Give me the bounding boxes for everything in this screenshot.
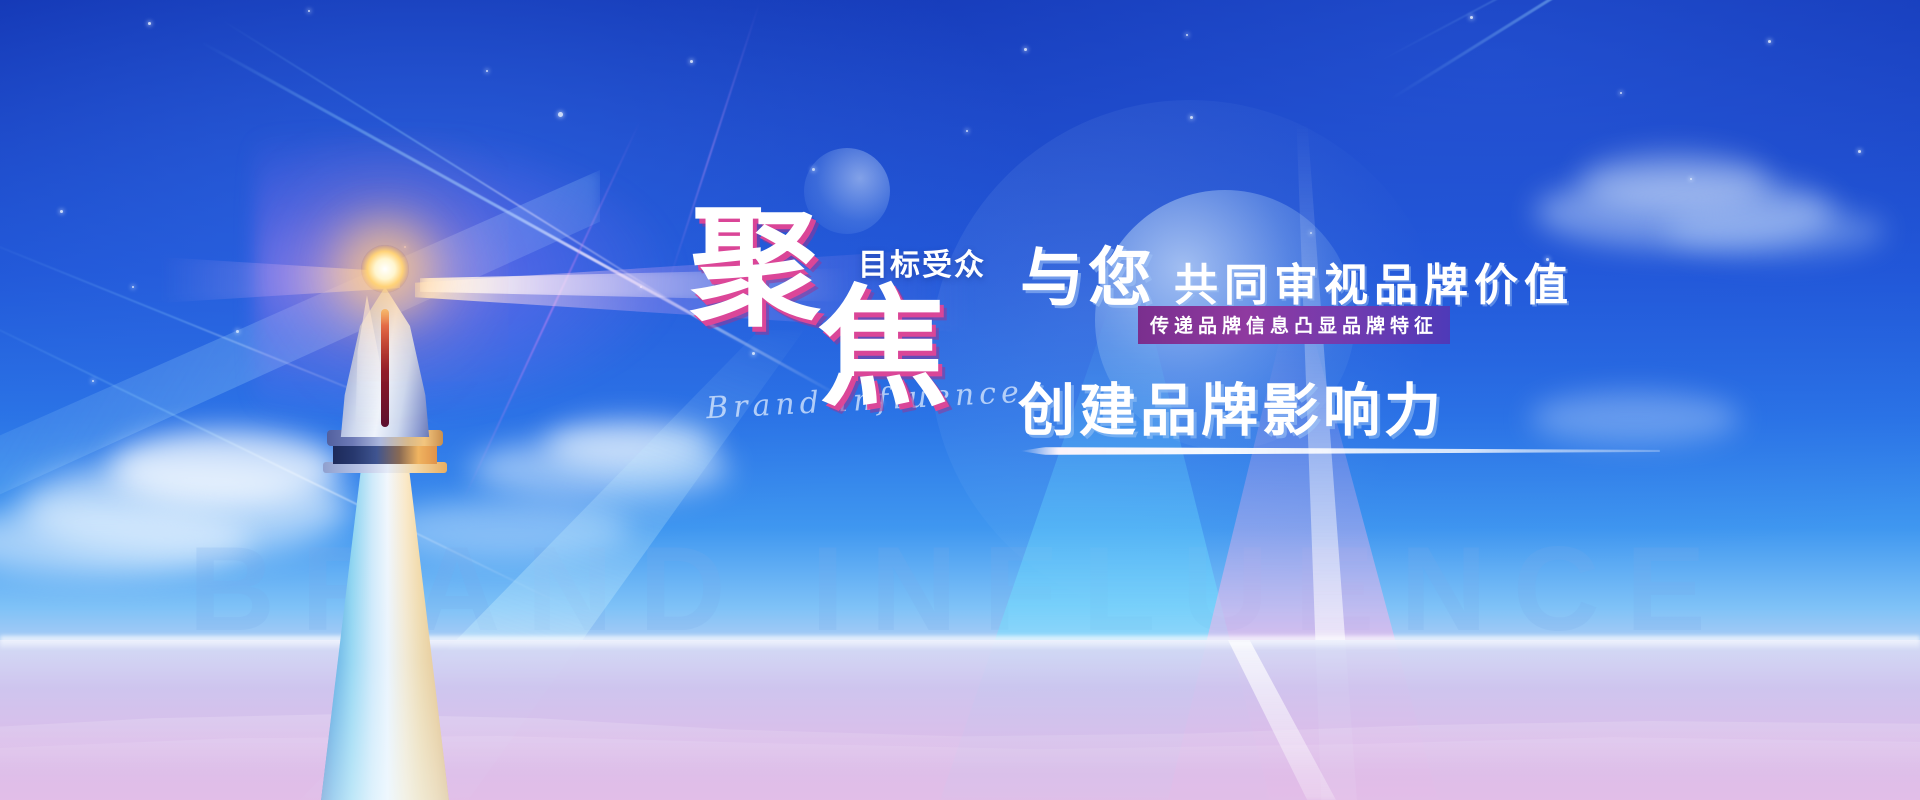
star-icon <box>308 10 310 12</box>
star-icon <box>1620 92 1622 94</box>
light-ray-icon <box>1389 0 1916 101</box>
star-icon <box>1470 16 1473 19</box>
cloud-icon <box>470 438 730 500</box>
headline-line-2: 创建品牌影响力 <box>1018 365 1445 447</box>
star-icon <box>60 210 63 213</box>
star-icon <box>558 112 563 117</box>
star-icon <box>1024 48 1027 51</box>
star-icon <box>92 380 94 382</box>
headline-lead-rest: 共同审视品牌价值 <box>1174 249 1574 313</box>
hero-character-ju: 聚 <box>690 205 820 335</box>
star-icon <box>486 70 488 72</box>
star-icon <box>132 286 134 288</box>
headline-lead: 与您 <box>1020 227 1156 319</box>
pen-nib-lighthouse-icon <box>315 225 455 800</box>
headline-divider <box>1020 447 1660 455</box>
headline-block: 聚 目标受众 Brand influence 焦 与您 共同审视品牌价值 传递品… <box>700 215 1860 545</box>
cloud-icon <box>1580 152 1770 210</box>
horizon-line <box>0 636 1920 648</box>
beacon-light-icon <box>361 245 409 293</box>
star-icon <box>690 60 693 63</box>
star-icon <box>1190 116 1193 119</box>
tagline-badge: 传递品牌信息凸显品牌特征 <box>1138 306 1450 344</box>
star-icon <box>812 168 815 171</box>
star-icon <box>966 130 968 132</box>
lighthouse-tower-highlight <box>321 471 449 800</box>
cloud-icon <box>110 430 340 506</box>
cloud-icon <box>545 420 715 468</box>
light-ray-icon <box>1380 0 1858 62</box>
promotional-banner: BRAND INFLUENCE 聚 目标受众 Brand influence 焦 <box>0 0 1920 800</box>
star-icon <box>1768 40 1771 43</box>
pen-nib-slit <box>381 309 389 427</box>
star-icon <box>1186 34 1188 36</box>
hero-character-jiao: 焦 <box>818 285 948 415</box>
star-icon <box>236 330 239 333</box>
lighthouse-collar <box>333 444 437 464</box>
star-icon <box>1858 150 1861 153</box>
star-icon <box>148 22 151 25</box>
star-icon <box>1690 178 1692 180</box>
